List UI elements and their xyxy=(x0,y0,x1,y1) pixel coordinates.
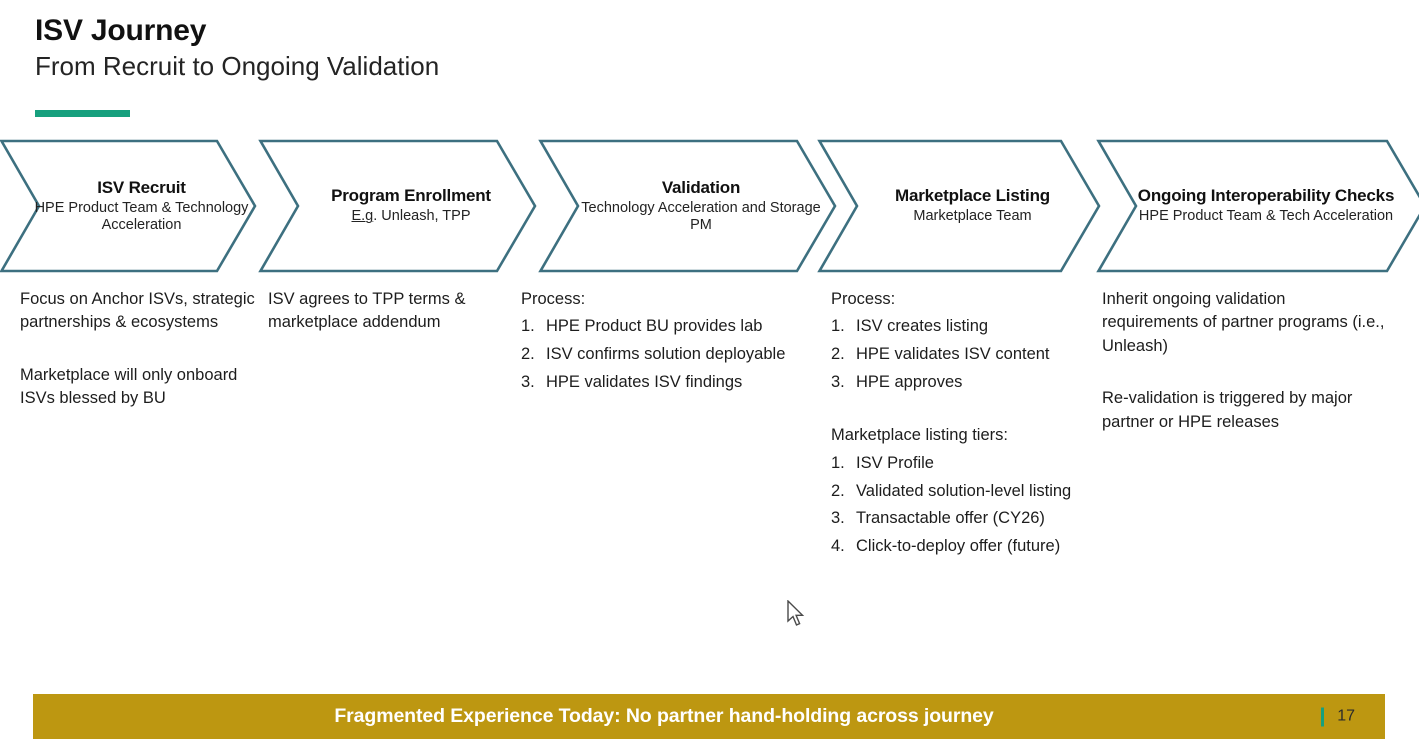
list-item-label: HPE Product BU provides lab xyxy=(546,317,762,335)
stage-subtitle-prefix: E.g xyxy=(351,208,373,224)
detail-paragraph: Marketplace will only onboard ISVs bless… xyxy=(20,364,260,411)
list-item: 3.Transactable offer (CY26) xyxy=(831,507,1106,531)
list-item-number: 1. xyxy=(831,452,851,476)
stage-chevron-isv-recruit[interactable]: ISV Recruit HPE Product Team & Technolog… xyxy=(0,139,257,273)
list-item-number: 4. xyxy=(831,535,851,559)
stage-title: Program Enrollment xyxy=(331,186,491,205)
list-item: 2.ISV confirms solution deployable xyxy=(521,343,821,367)
spacer xyxy=(1102,358,1385,387)
list-item-number: 1. xyxy=(521,315,541,339)
stage-subtitle: E.g. Unleash, TPP xyxy=(351,208,470,225)
detail-paragraph: ISV agrees to TPP terms & marketplace ad… xyxy=(268,288,508,335)
list-item-number: 2. xyxy=(521,343,541,367)
list-item: 1.ISV Profile xyxy=(831,452,1106,476)
stage-subtitle: HPE Product Team & Technology Accelerati… xyxy=(34,200,249,234)
list-item: 3.HPE approves xyxy=(831,371,1106,395)
detail-paragraph: Focus on Anchor ISVs, strategic partners… xyxy=(20,288,260,335)
stage-chevron-marketplace-listing[interactable]: Marketplace Listing Marketplace Team xyxy=(818,139,1101,273)
page-marker: 17 xyxy=(1321,707,1355,726)
stage-title: Validation xyxy=(662,178,740,197)
list-item-number: 3. xyxy=(831,507,851,531)
list-item-label: ISV Profile xyxy=(856,454,934,472)
spacer xyxy=(831,395,1106,424)
stage-detail-column-4: Process: 1.ISV creates listing 2.HPE val… xyxy=(831,288,1106,559)
stage-title: Marketplace Listing xyxy=(895,186,1050,205)
list-item-label: ISV creates listing xyxy=(856,317,988,335)
page-subtitle: From Recruit to Ongoing Validation xyxy=(35,52,439,82)
detail-paragraph: Re-validation is triggered by major part… xyxy=(1102,387,1385,434)
stage-detail-column-2: ISV agrees to TPP terms & marketplace ad… xyxy=(268,288,508,335)
stage-subtitle: HPE Product Team & Tech Acceleration xyxy=(1139,208,1393,225)
detail-lead: Process: xyxy=(831,288,1106,311)
stage-subtitle-rest: . Unleash, TPP xyxy=(373,208,470,224)
list-item-label: HPE validates ISV content xyxy=(856,345,1050,363)
detail-ordered-list: 1.HPE Product BU provides lab 2.ISV conf… xyxy=(521,315,821,395)
stage-title: Ongoing Interoperability Checks xyxy=(1138,186,1394,205)
page-tick-icon xyxy=(1321,707,1324,726)
detail-lead: Process: xyxy=(521,288,821,311)
stage-chevron-ongoing-interoperability-checks[interactable]: Ongoing Interoperability Checks HPE Prod… xyxy=(1097,139,1419,273)
list-item-label: Validated solution-level listing xyxy=(856,482,1071,500)
list-item-number: 1. xyxy=(831,315,851,339)
accent-bar xyxy=(35,110,130,117)
stage-detail-column-1: Focus on Anchor ISVs, strategic partners… xyxy=(20,288,260,411)
list-item: 2.HPE validates ISV content xyxy=(831,343,1106,367)
detail-ordered-list: 1.ISV creates listing 2.HPE validates IS… xyxy=(831,315,1106,395)
list-item-number: 3. xyxy=(831,371,851,395)
list-item: 4.Click-to-deploy offer (future) xyxy=(831,535,1106,559)
footer-banner: Fragmented Experience Today: No partner … xyxy=(33,694,1385,739)
stage-subtitle: Marketplace Team xyxy=(913,208,1031,225)
title-block: ISV Journey From Recruit to Ongoing Vali… xyxy=(35,14,439,82)
list-item: 1.ISV creates listing xyxy=(831,315,1106,339)
list-item-label: HPE validates ISV findings xyxy=(546,373,742,391)
stage-detail-column-3: Process: 1.HPE Product BU provides lab 2… xyxy=(521,288,821,395)
page-title: ISV Journey xyxy=(35,14,439,47)
spacer xyxy=(20,335,260,364)
stage-chevron-program-enrollment[interactable]: Program Enrollment E.g. Unleash, TPP xyxy=(259,139,537,273)
page-number: 17 xyxy=(1337,708,1355,726)
list-item-number: 3. xyxy=(521,371,541,395)
process-chevron-row: ISV Recruit HPE Product Team & Technolog… xyxy=(0,139,1419,273)
stage-subtitle: Technology Acceleration and Storage PM xyxy=(573,200,829,234)
list-item: 3.HPE validates ISV findings xyxy=(521,371,821,395)
stage-chevron-validation[interactable]: Validation Technology Acceleration and S… xyxy=(539,139,837,273)
stage-detail-column-5: Inherit ongoing validation requirements … xyxy=(1102,288,1385,434)
list-item-label: ISV confirms solution deployable xyxy=(546,345,785,363)
list-item: 2.Validated solution-level listing xyxy=(831,480,1106,504)
list-item-label: Transactable offer (CY26) xyxy=(856,509,1045,527)
list-item-number: 2. xyxy=(831,343,851,367)
stage-title: ISV Recruit xyxy=(97,178,186,197)
list-item-label: Click-to-deploy offer (future) xyxy=(856,537,1060,555)
detail-paragraph: Inherit ongoing validation requirements … xyxy=(1102,288,1385,358)
footer-message: Fragmented Experience Today: No partner … xyxy=(334,705,993,728)
slide-canvas: ISV Journey From Recruit to Ongoing Vali… xyxy=(0,0,1419,749)
list-item: 1.HPE Product BU provides lab xyxy=(521,315,821,339)
list-item-label: HPE approves xyxy=(856,373,962,391)
list-item-number: 2. xyxy=(831,480,851,504)
detail-ordered-list-secondary: 1.ISV Profile 2.Validated solution-level… xyxy=(831,452,1106,560)
mouse-cursor-icon xyxy=(786,600,806,633)
detail-lead-secondary: Marketplace listing tiers: xyxy=(831,424,1106,447)
